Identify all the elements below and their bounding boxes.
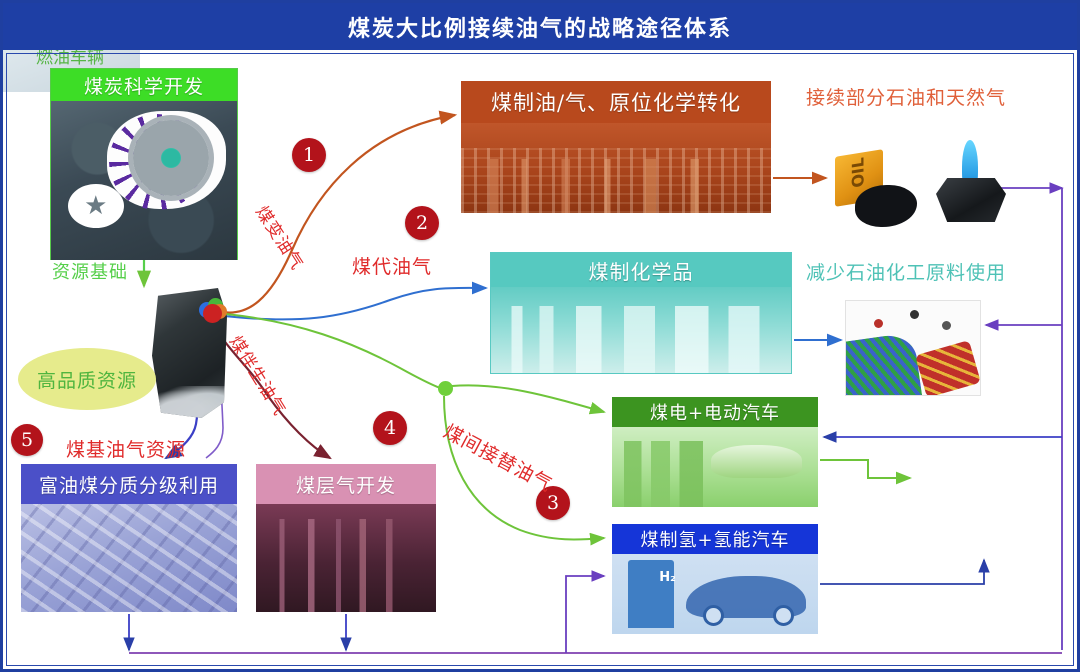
oil-label: OIL (848, 156, 867, 189)
catalyst-surface (845, 332, 922, 396)
pathway-hub-node (199, 298, 229, 328)
stove-body (936, 178, 1006, 222)
path-label-coal-to-oilgas: 煤变油气 (251, 200, 311, 274)
link-greennode-to-ev (452, 385, 604, 412)
card-coal-chemicals-title: 煤制化学品 (491, 253, 791, 287)
card-coal-to-liquids[interactable]: 煤制油/气、原位化学转化 (461, 81, 771, 213)
chemical-plant-photo (491, 287, 791, 373)
card-coal-to-liquids-title: 煤制油/气、原位化学转化 (461, 81, 771, 123)
high-quality-resource-badge: 高品质资源 (18, 348, 156, 410)
badge-pathway-2: 2 (405, 206, 439, 240)
path-label-coal-substitute-oilgas: 煤代油气 (352, 252, 432, 279)
card-coal-science-development-title: 煤炭科学开发 (51, 69, 237, 101)
star-glyph: ★ (84, 193, 107, 219)
link-h2-to-altvehicles (820, 560, 984, 584)
badge-pathway-4: 4 (373, 411, 407, 445)
hydrogen-label: H₂ (659, 570, 676, 585)
molecule-dot-3 (942, 321, 951, 330)
card-coal-chemicals[interactable]: 煤制化学品 (490, 252, 792, 374)
coal-based-oilgas-resource-label: 煤基油气资源 (66, 435, 186, 462)
coal-sparkle (146, 386, 234, 428)
power-plant-and-ev-photo (612, 427, 818, 507)
card-rich-oil-coal-grading[interactable]: 富油煤分质分级利用 (21, 464, 237, 612)
hub-ring-red (203, 304, 222, 323)
resource-base-label: 资源基础 (52, 258, 182, 284)
link-ev-to-altvehicles (820, 460, 910, 478)
diagram-canvas: 煤炭大比例接续油气的战略途径体系 煤炭科学开发 ★ 资源基础 高品质资源 1 2… (0, 0, 1080, 672)
badge-pathway-5: 5 (11, 424, 43, 456)
molecule-dot-2 (910, 310, 919, 319)
card-coal-science-development[interactable]: 煤炭科学开发 ★ (50, 68, 238, 260)
car-wheel-rear-icon (773, 605, 794, 626)
card-coalbed-methane[interactable]: 煤层气开发 (256, 464, 436, 612)
diagram-title-bar: 煤炭大比例接续油气的战略途径体系 (3, 3, 1077, 50)
card-coal-hydrogen-fcev-title: 煤制氢+氢能汽车 (612, 524, 818, 554)
path-label-coal-associated-oilgas: 煤伴生油气 (225, 330, 294, 420)
molecule-dot-1 (874, 319, 883, 328)
card-coal-hydrogen-fcev[interactable]: 煤制氢+氢能汽车 H₂ (612, 524, 818, 634)
card-coalbed-methane-title: 煤层气开发 (256, 464, 436, 504)
gear-icon (133, 120, 209, 196)
card-coal-power-ev-title: 煤电+电动汽车 (612, 397, 818, 427)
oil-barrel-icon: OIL (829, 145, 925, 231)
gas-stove-icon (930, 140, 1014, 232)
outcome-replace-oil-and-gas: 接续部分石油和天然气 (806, 83, 1006, 110)
page-title: 煤炭大比例接续油气的战略途径体系 (348, 11, 732, 43)
refinery-night-photo (461, 123, 771, 213)
coal-seam-photo: ★ (51, 101, 237, 260)
oil-spill-shape (855, 185, 917, 227)
card-coal-power-ev[interactable]: 煤电+电动汽车 (612, 397, 818, 507)
outcome-reduce-petrochemical-feedstock: 减少石油化工原料使用 (806, 258, 1006, 285)
industrial-complex-photo (21, 504, 237, 612)
link-hub-to-chem (224, 288, 486, 320)
badge-pathway-1: 1 (292, 138, 326, 172)
hydrogen-refueling-photo: H₂ (612, 554, 818, 634)
card-rich-oil-coal-grading-title: 富油煤分质分级利用 (21, 464, 237, 504)
path-label-coal-indirect-replace-oilgas: 煤间接替油气 (439, 417, 558, 497)
green-junction-node (438, 381, 453, 396)
catalyst-molecule-icon (845, 300, 981, 396)
high-quality-resource-label: 高品质资源 (37, 366, 137, 393)
zeolite-rods (915, 340, 981, 396)
hydrogen-pump-icon: H₂ (628, 560, 673, 627)
bus-bottom-to-h2 (566, 576, 604, 653)
star-icon: ★ (68, 184, 124, 228)
car-wheel-front-icon (703, 605, 724, 626)
gas-field-photo (256, 504, 436, 612)
